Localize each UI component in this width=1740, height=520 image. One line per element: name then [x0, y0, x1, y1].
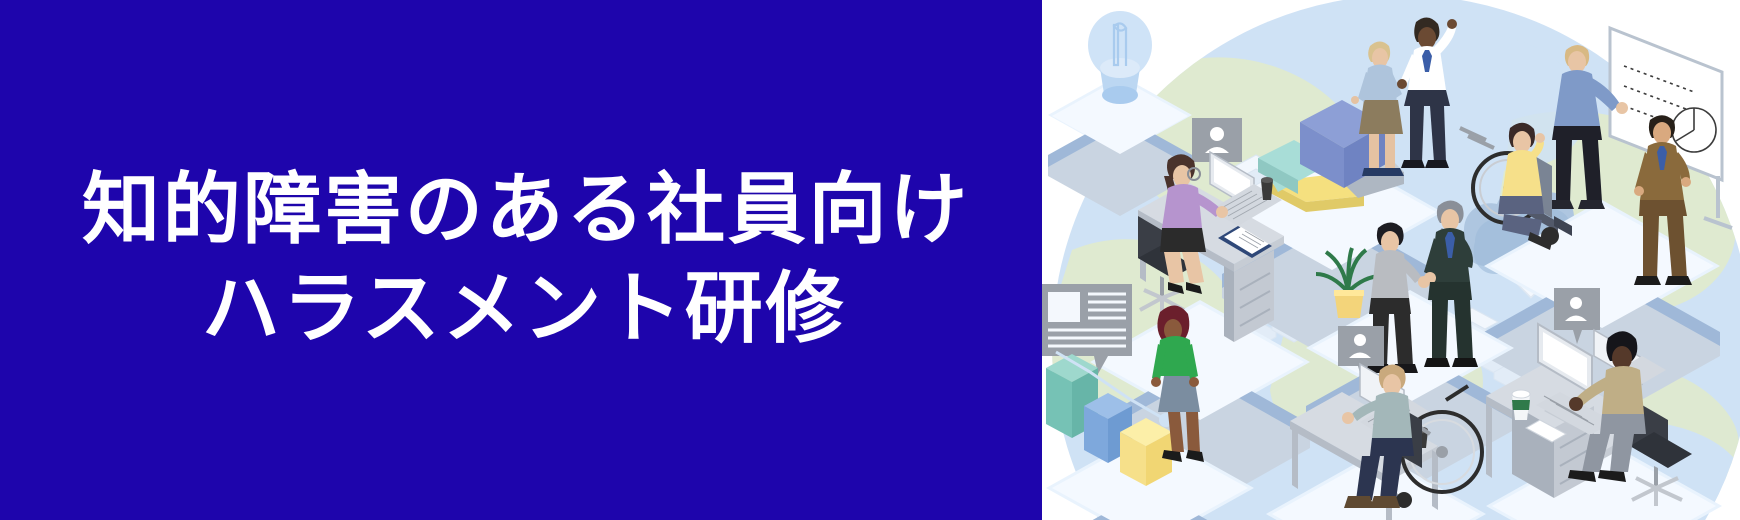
illustration-svg — [1042, 0, 1740, 520]
title-panel: 知的障害のある社員向け ハラスメント研修 — [0, 0, 1042, 520]
pie-icon — [1672, 108, 1716, 152]
title-line-1: 知的障害のある社員向け — [82, 167, 970, 254]
training-banner: 知的障害のある社員向け ハラスメント研修 — [0, 0, 1740, 520]
isometric-illustration — [1042, 0, 1740, 520]
title-line-2: ハラスメント研修 — [202, 266, 846, 353]
coffee-cup — [1512, 390, 1530, 420]
page-title: 知的障害のある社員向け ハラスメント研修 — [0, 0, 1042, 520]
coffee-cup — [1261, 177, 1273, 200]
